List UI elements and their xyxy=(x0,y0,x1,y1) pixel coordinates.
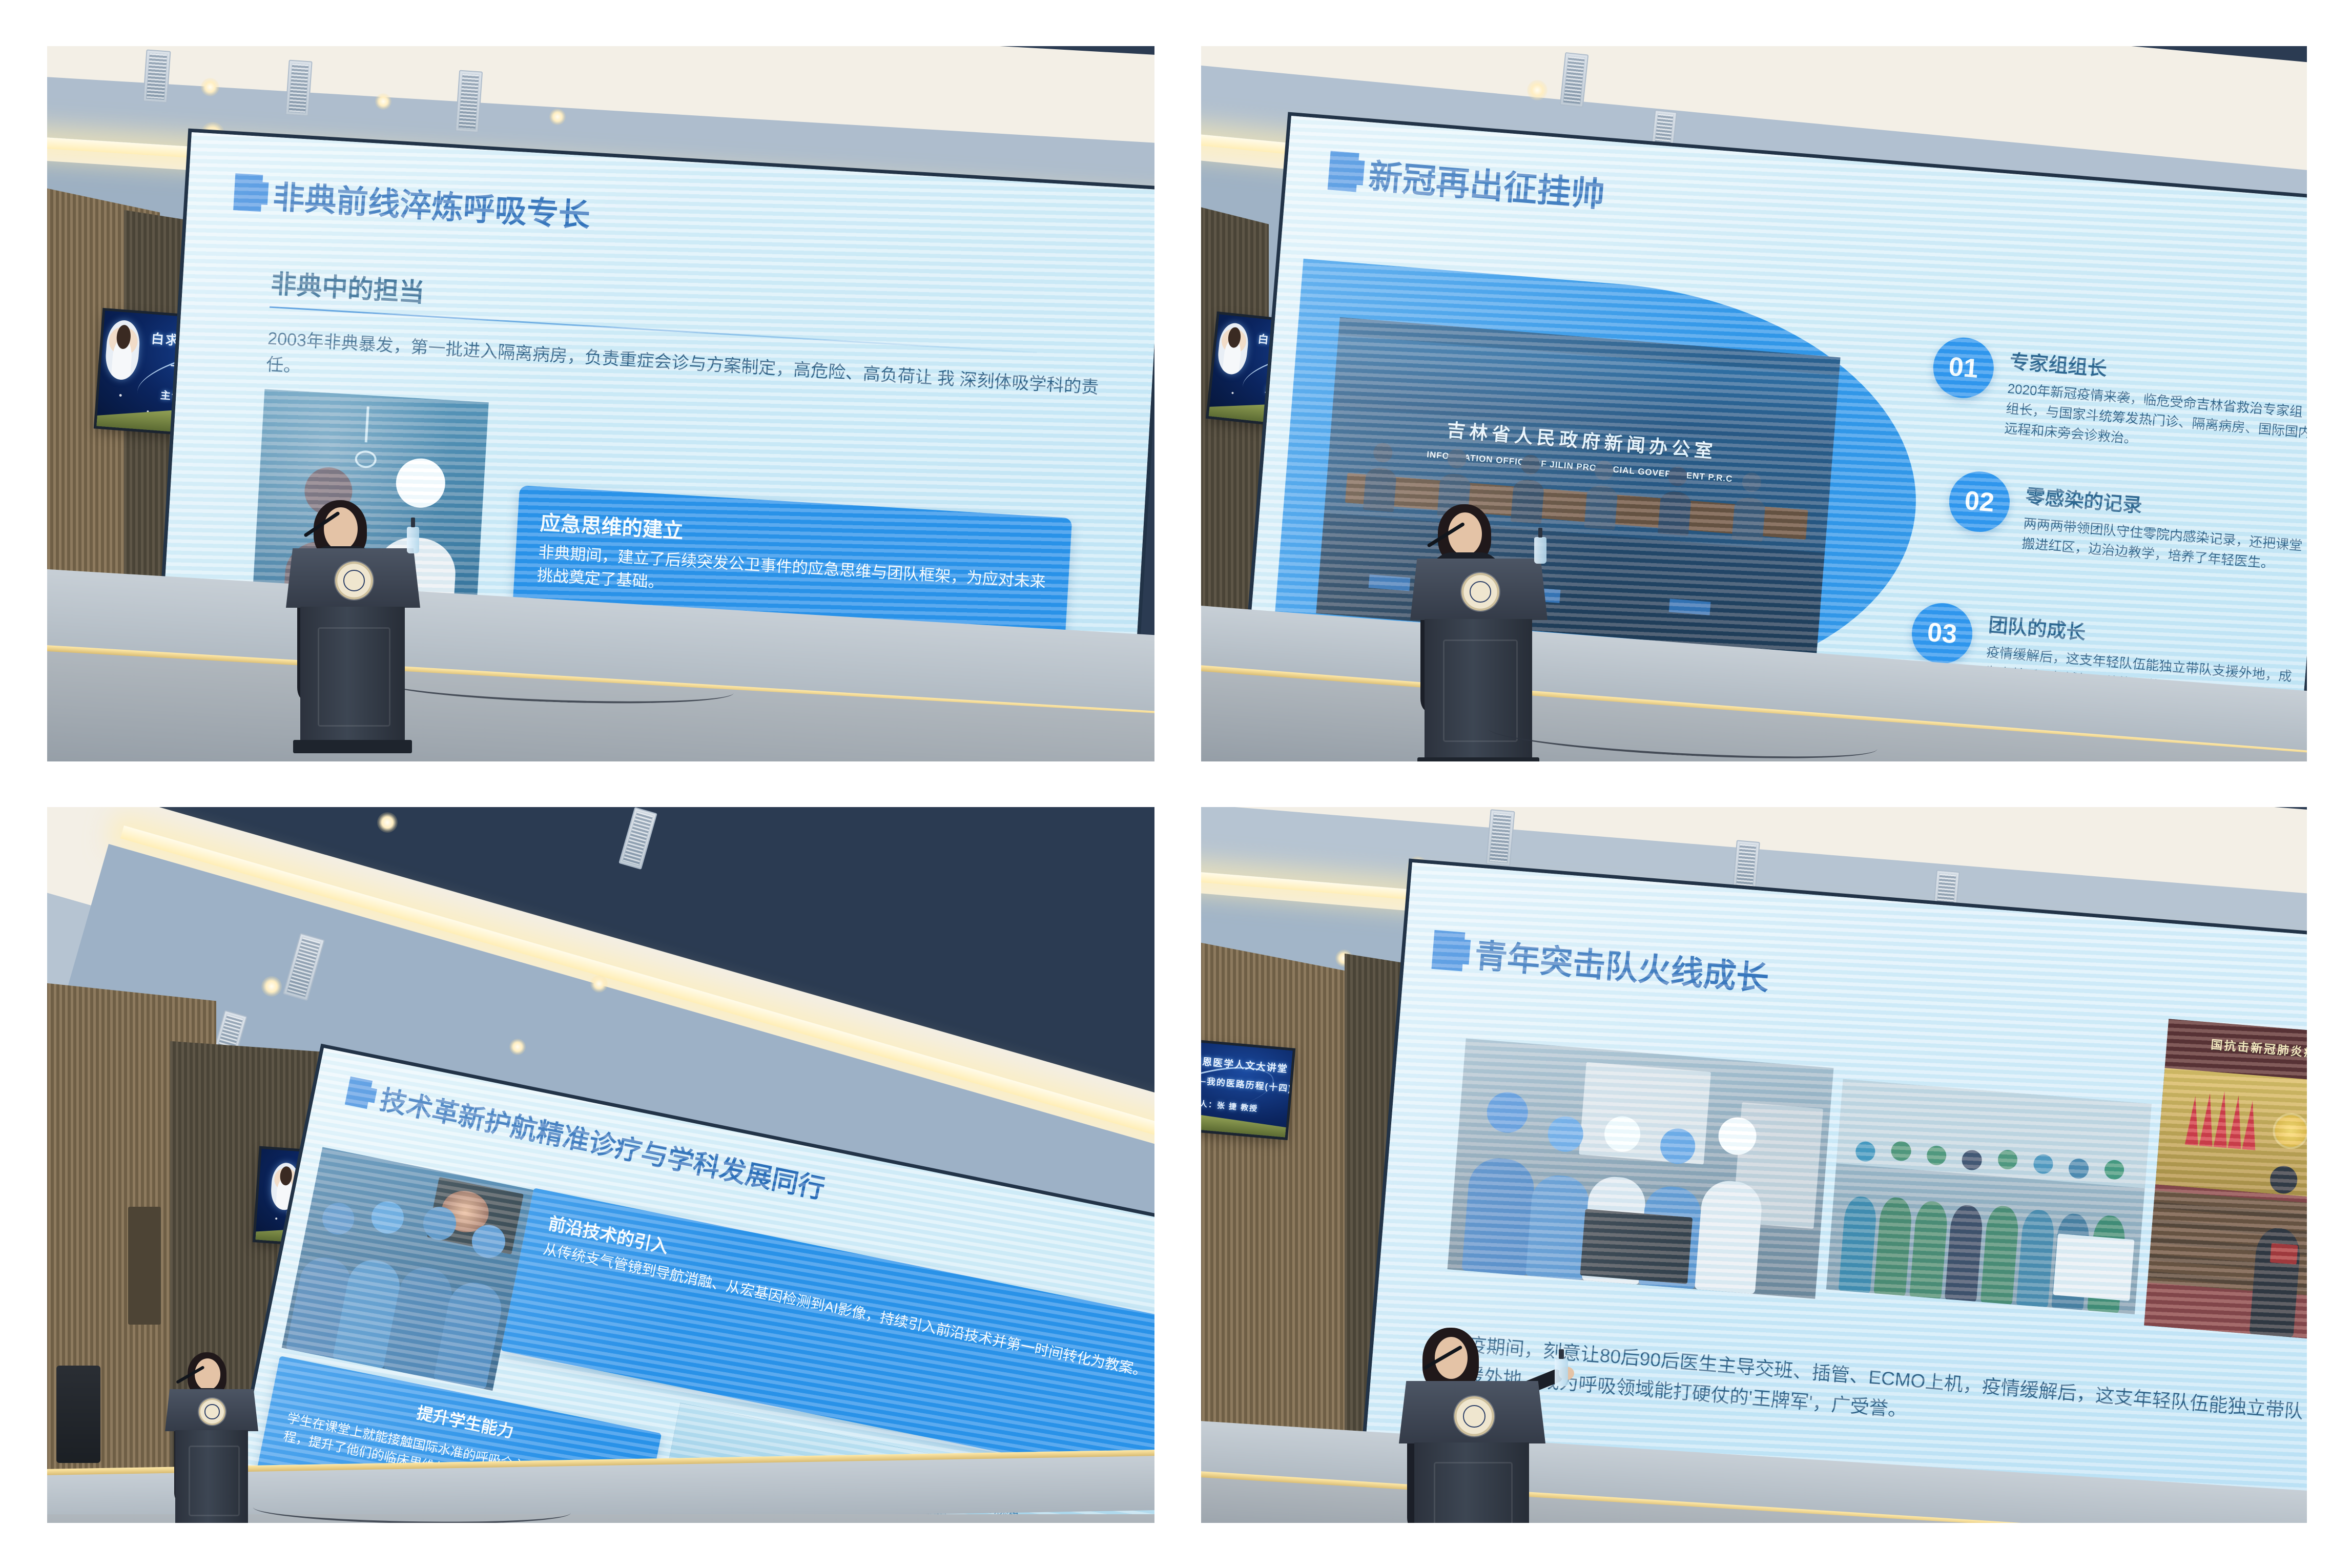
ceiling-spotlight-icon xyxy=(509,1039,526,1055)
ceiling-vent-icon xyxy=(1486,809,1515,866)
item-number-03: 03 xyxy=(1910,601,1975,666)
item-number-01: 01 xyxy=(1931,335,1996,400)
title-accent-bar xyxy=(233,173,263,212)
side-monitor: 白求恩医学人文大讲堂 ——我的医路历程(十四) 主讲人：张 捷 教授 xyxy=(1201,1037,1293,1137)
slide-title-group: 新冠再出征挂帅 xyxy=(1327,146,1607,217)
ceiling-spotlight-icon xyxy=(590,975,608,993)
ceiling-vent-icon xyxy=(143,49,171,103)
slide-photo-icu-team xyxy=(1826,1079,2152,1314)
item-number-02: 02 xyxy=(1947,469,2012,534)
podium-panel xyxy=(1434,1462,1513,1523)
slide-body: 战疫期间，刻意让80后90后医生主导交班、插管、ECMO上机，疫情缓解后，这支年… xyxy=(1445,1328,2307,1458)
photo-collage: 白求恩医学人文大讲堂 ——我的医路历程(十四) 主讲人：张 捷 教授 非典前线淬… xyxy=(0,0,2352,1568)
jilin-university-emblem-icon xyxy=(1454,1396,1494,1436)
panel-2-photo: 白求恩医学人文大讲堂 ——我的医路历程(十四) 主讲人：张 捷 教授 新冠再出征… xyxy=(1201,46,2307,761)
ceiling-spotlight-icon xyxy=(1527,80,1548,100)
podium xyxy=(1399,1381,1545,1523)
slide-subhead: 非典中的担当 xyxy=(270,263,426,310)
ceiling-vent-icon xyxy=(285,60,312,117)
slide-title: 非典前线淬炼呼吸专长 xyxy=(272,171,591,236)
ceiling-spotlight-icon xyxy=(375,93,391,110)
slide-photo-press-conference: 吉林省人民政府新闻办公室 INFORMATION OFFICE OF JILIN… xyxy=(1316,317,1840,654)
podium-panel xyxy=(189,1446,240,1516)
card1-title: 前沿技术的引入 xyxy=(546,1209,1154,1366)
water-bottle xyxy=(1534,537,1546,564)
jilin-university-emblem-icon xyxy=(199,1398,225,1425)
panel-1-photo: 白求恩医学人文大讲堂 ——我的医路历程(十四) 主讲人：张 捷 教授 非典前线淬… xyxy=(47,46,1154,761)
wall-door xyxy=(128,1207,161,1325)
slide-photo-bronchoscopy xyxy=(282,1147,533,1391)
ceiling-spotlight-icon xyxy=(201,78,219,96)
slide-photo-award-ceremony: 国抗击新冠肺炎疫情表彰大会 xyxy=(2144,1019,2307,1346)
speaker-head xyxy=(195,1358,220,1390)
title-accent-bar xyxy=(1328,151,1359,192)
water-bottle xyxy=(1555,1358,1568,1386)
speaker-head xyxy=(1448,512,1482,555)
podium-panel xyxy=(318,627,390,727)
jilin-university-emblem-icon xyxy=(1461,573,1499,611)
slide-title: 新冠再出征挂帅 xyxy=(1367,149,1607,217)
slide-title-group: 非典前线淬炼呼吸专长 xyxy=(233,169,592,236)
speaker-head xyxy=(324,507,358,550)
podium xyxy=(286,548,420,755)
slide-title-group: 青年突击队火线成长 xyxy=(1431,926,1771,1000)
ceiling-vent-icon xyxy=(618,807,657,870)
podium-base xyxy=(293,740,412,753)
ceiling-spotlight-icon xyxy=(261,976,282,997)
slide-photo-ward-meeting xyxy=(1448,1039,1834,1299)
podium-base xyxy=(1417,757,1539,761)
flag-fan-left xyxy=(2185,1088,2271,1151)
ceiling-spotlight-icon xyxy=(549,109,566,125)
jilin-university-emblem-icon xyxy=(335,562,373,600)
panel-3-photo: 白求恩医学人文大讲堂 ——我的医路历程(十四) 主讲人：张 捷 教授 技术革新护… xyxy=(47,807,1154,1523)
podium xyxy=(165,1389,258,1523)
ceiling-vent-icon xyxy=(455,70,483,133)
title-accent-bar xyxy=(345,1076,373,1109)
ceiling-spotlight-icon xyxy=(377,812,398,833)
water-bottle xyxy=(407,527,419,553)
panel-4-photo: 白求恩医学人文大讲堂 ——我的医路历程(十四) 主讲人：张 捷 教授 青年突击队… xyxy=(1201,807,2307,1523)
title-accent-bar xyxy=(1431,930,1465,972)
trash-bin xyxy=(56,1366,100,1463)
slide-title: 青年突击队火线成长 xyxy=(1473,930,1771,1000)
